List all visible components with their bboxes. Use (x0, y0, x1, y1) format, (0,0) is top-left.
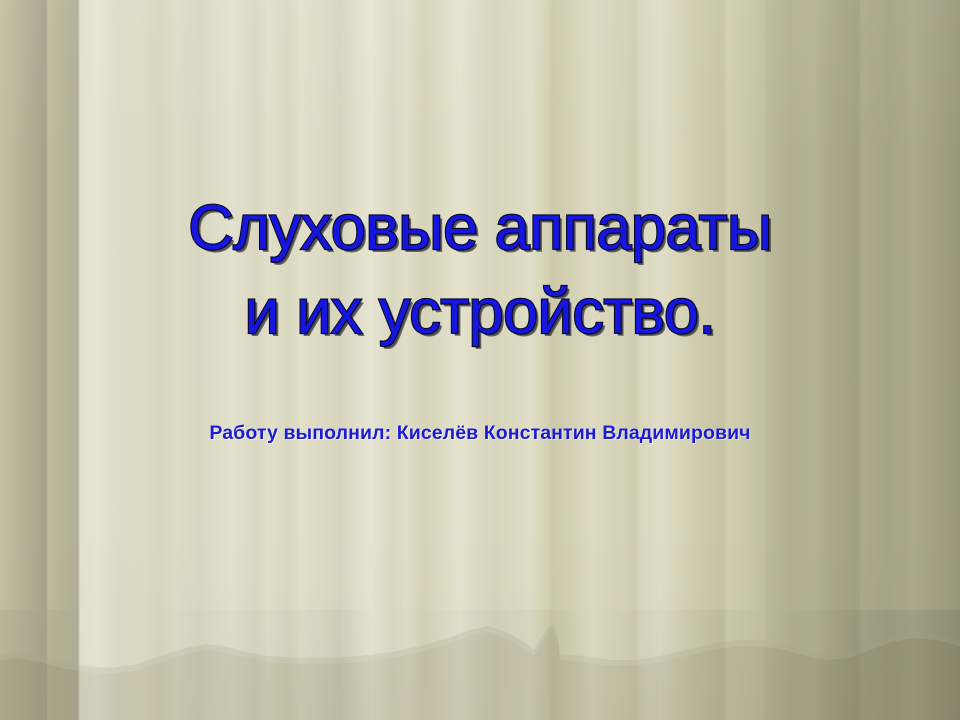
presentation-slide: Слуховые аппараты и их устройство. Работ… (0, 0, 960, 720)
slide-content: Слуховые аппараты и их устройство. Работ… (0, 0, 960, 720)
slide-subtitle-author: Работу выполнил: Киселёв Константин Влад… (0, 420, 960, 446)
slide-title: Слуховые аппараты и их устройство. (0, 186, 960, 354)
slide-title-line-2: и их устройство. (0, 270, 960, 354)
slide-title-line-1: Слуховые аппараты (0, 186, 960, 270)
